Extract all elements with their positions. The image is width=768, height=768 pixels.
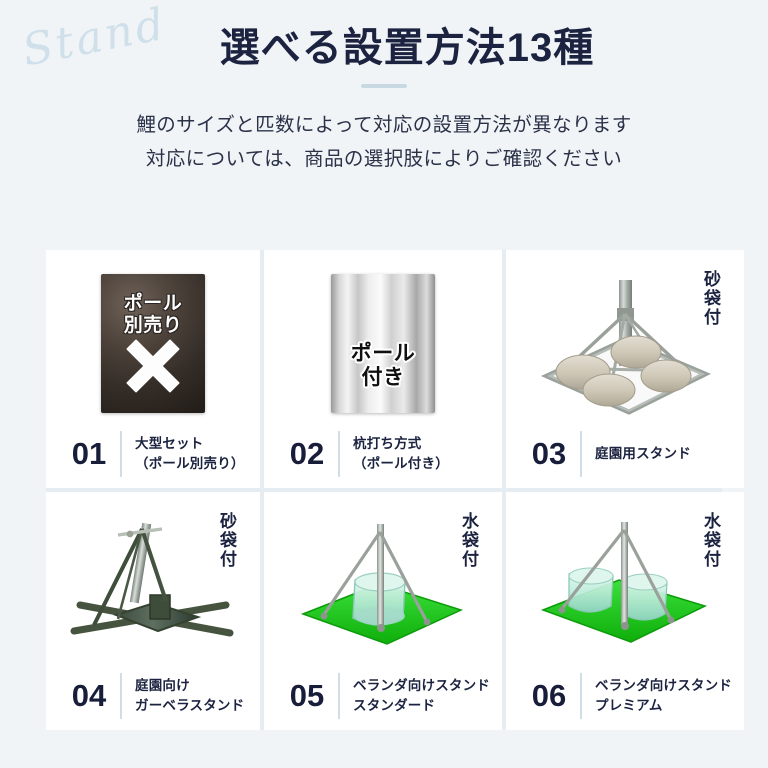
method-thumbnail-02: ポール 付き <box>276 260 490 426</box>
method-card-05[interactable]: 水袋付 <box>264 492 502 730</box>
method-label-02-line1: 杭打ち方式 <box>353 434 449 454</box>
method-thumbnail-01: ポール 別売り <box>58 260 248 426</box>
method-label-03: 庭園用スタンド <box>595 444 691 464</box>
method-label-04-line1: 庭園向け <box>135 676 244 696</box>
method-label-05: ベランダ向けスタンド スタンダード <box>353 676 490 715</box>
method-card-01[interactable]: ポール 別売り 01 大型セット （ポール別売り） <box>46 250 260 488</box>
method-label-02: 杭打ち方式 （ポール付き） <box>353 434 449 473</box>
method-caption-05: 05 ベランダ向けスタンド スタンダード <box>276 668 490 730</box>
method-label-06-line2: プレミアム <box>595 696 732 716</box>
method-card-06[interactable]: 水袋付 <box>506 492 744 730</box>
method-thumbnail-04: 砂袋付 <box>58 502 248 668</box>
badge-text-02-line2: 付き <box>351 366 416 390</box>
method-number-03: 03 <box>518 436 580 472</box>
method-card-03[interactable]: 砂袋付 <box>506 250 744 488</box>
installation-method-grid: ポール 別売り 01 大型セット （ポール別売り） <box>46 250 722 730</box>
caption-divider <box>580 431 582 477</box>
method-number-01: 01 <box>58 436 120 472</box>
method-number-05: 05 <box>276 678 338 714</box>
pole-included-badge: ポール 付き <box>331 274 435 413</box>
page-subtitle: 鯉のサイズと匹数によって対応の設置方法が異なります 対応については、商品の選択肢… <box>0 108 768 176</box>
method-caption-06: 06 ベランダ向けスタンド プレミアム <box>518 668 732 730</box>
method-caption-01: 01 大型セット （ポール別売り） <box>58 426 248 488</box>
veranda-standard-waterbag-illustration <box>293 510 473 660</box>
subtitle-line-2: 対応については、商品の選択肢によりご確認ください <box>0 142 768 176</box>
method-label-04-line2: ガーベラスタンド <box>135 696 244 716</box>
badge-text-01-line2: 別売り <box>124 315 183 336</box>
method-card-02[interactable]: ポール 付き 02 杭打ち方式 （ポール付き） <box>264 250 502 488</box>
badge-text-02: ポール 付き <box>351 342 416 389</box>
method-label-05-line1: ベランダ向けスタンド <box>353 676 490 696</box>
garden-stand-sandbags-illustration <box>533 268 718 418</box>
caption-divider <box>120 431 122 477</box>
method-label-03-line1: 庭園用スタンド <box>595 444 691 464</box>
caption-divider <box>120 673 122 719</box>
method-number-04: 04 <box>58 678 120 714</box>
page-header: Stand 選べる設置方法13種 鯉のサイズと匹数によって対応の設置方法が異なり… <box>0 0 768 176</box>
waterbag-included-tag-05: 水袋付 <box>459 512 478 569</box>
badge-text-01-line1: ポール <box>124 293 183 314</box>
badge-text-02-line1: ポール <box>351 342 416 366</box>
waterbag-included-tag-06: 水袋付 <box>701 512 720 569</box>
caption-divider <box>338 673 340 719</box>
method-caption-02: 02 杭打ち方式 （ポール付き） <box>276 426 490 488</box>
method-caption-03: 03 庭園用スタンド <box>518 426 732 488</box>
subtitle-line-1: 鯉のサイズと匹数によって対応の設置方法が異なります <box>0 108 768 142</box>
method-label-06: ベランダ向けスタンド プレミアム <box>595 676 732 715</box>
title-underline-rule <box>361 84 407 88</box>
page-root: Stand 選べる設置方法13種 鯉のサイズと匹数によって対応の設置方法が異なり… <box>0 0 768 768</box>
method-label-01-line2: （ポール別売り） <box>135 454 245 474</box>
badge-text-01: ポール 別売り <box>124 293 183 336</box>
cross-x-icon <box>127 343 179 389</box>
method-thumbnail-06: 水袋付 <box>518 502 732 668</box>
method-number-06: 06 <box>518 678 580 714</box>
method-thumbnail-05: 水袋付 <box>276 502 490 668</box>
method-label-05-line2: スタンダード <box>353 696 490 716</box>
sandbag-included-tag-04: 砂袋付 <box>217 512 236 569</box>
method-label-04: 庭園向け ガーベラスタンド <box>135 676 244 715</box>
method-label-06-line1: ベランダ向けスタンド <box>595 676 732 696</box>
pole-sold-separately-badge: ポール 別売り <box>101 274 205 413</box>
method-caption-04: 04 庭園向け ガーベラスタンド <box>58 668 248 730</box>
method-number-02: 02 <box>276 436 338 472</box>
method-card-04[interactable]: 砂袋付 <box>46 492 260 730</box>
caption-divider <box>338 431 340 477</box>
method-label-01-line1: 大型セット <box>135 434 245 454</box>
method-label-02-line2: （ポール付き） <box>353 454 449 474</box>
sandbag-included-tag-03: 砂袋付 <box>701 270 720 327</box>
veranda-premium-two-waterbags-illustration <box>535 510 715 660</box>
method-thumbnail-03: 砂袋付 <box>518 260 732 426</box>
method-label-01: 大型セット （ポール別売り） <box>135 434 245 473</box>
caption-divider <box>580 673 582 719</box>
